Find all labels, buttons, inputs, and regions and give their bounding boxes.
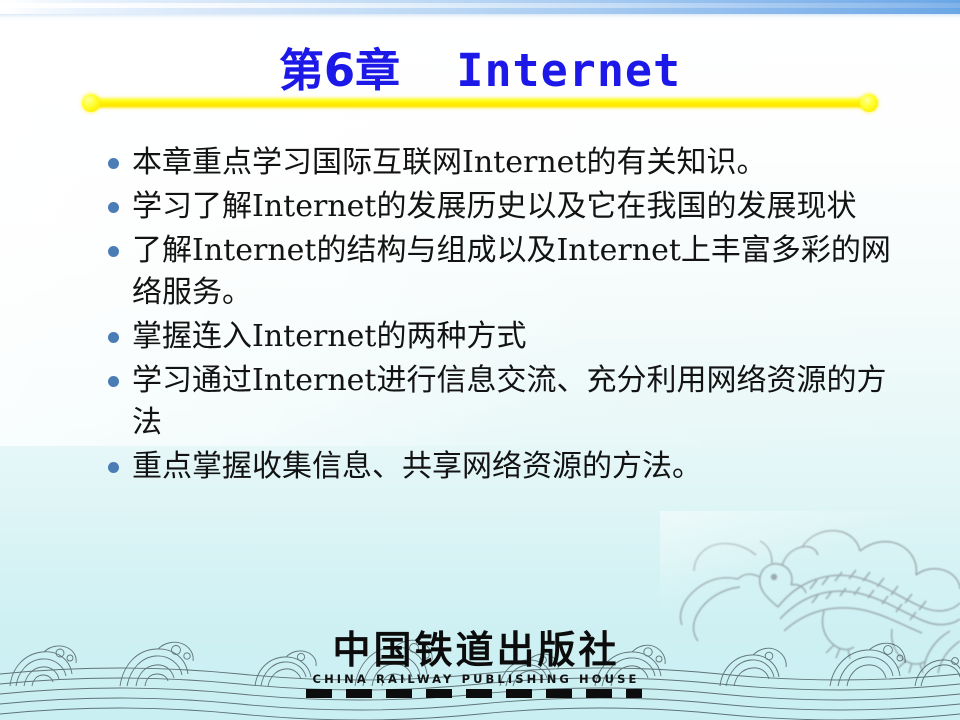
bullet-text: 重点掌握收集信息、共享网络资源的方法。 [132,446,908,488]
bullet-text: 学习通过Internet进行信息交流、充分利用网络资源的方法 [132,360,908,444]
wave-pattern-icon [0,600,960,720]
divider-bar [90,98,870,108]
publisher-name-en: CHINA RAILWAY PUBLISHING HOUSE [306,672,646,687]
divider-knob-right [860,94,878,112]
bullet-dot-icon [108,462,119,473]
top-gradient-band [0,0,960,14]
list-item: 掌握连入Internet的两种方式 [108,316,908,358]
divider-knob-left [82,94,100,112]
list-item: 本章重点学习国际互联网Internet的有关知识。 [108,142,908,184]
bullet-dot-icon [108,246,119,257]
bullet-dot-icon [108,376,119,387]
top-band-highlight [0,3,960,8]
bullet-text: 掌握连入Internet的两种方式 [132,316,908,358]
publisher-logo: 中国铁道出版社 CHINA RAILWAY PUBLISHING HOUSE [306,629,646,698]
title-divider [82,94,878,112]
bullet-list: 本章重点学习国际互联网Internet的有关知识。 学习了解Internet的发… [108,142,908,490]
list-item: 重点掌握收集信息、共享网络资源的方法。 [108,446,908,488]
dragon-illustration-icon [660,511,960,696]
slide: 第6章 Internet 本章重点学习国际互联网Internet的有关知识。 学… [0,0,960,720]
bullet-dot-icon [108,202,119,213]
logo-dashed-rule [306,689,642,698]
bullet-text: 本章重点学习国际互联网Internet的有关知识。 [132,142,908,184]
list-item: 了解Internet的结构与组成以及Internet上丰富多彩的网络服务。 [108,230,908,314]
title-chinese: 第6章 [279,44,400,97]
top-band-shadow [0,14,960,21]
bullet-dot-icon [108,332,119,343]
bullet-text: 学习了解Internet的发展历史以及它在我国的发展现状 [132,186,908,228]
bullet-dot-icon [108,158,119,169]
list-item: 学习了解Internet的发展历史以及它在我国的发展现状 [108,186,908,228]
publisher-name-cn: 中国铁道出版社 [306,629,646,671]
bullet-text: 了解Internet的结构与组成以及Internet上丰富多彩的网络服务。 [132,230,908,314]
title-english: Internet [456,44,681,97]
slide-title: 第6章 Internet [0,34,960,98]
list-item: 学习通过Internet进行信息交流、充分利用网络资源的方法 [108,360,908,444]
